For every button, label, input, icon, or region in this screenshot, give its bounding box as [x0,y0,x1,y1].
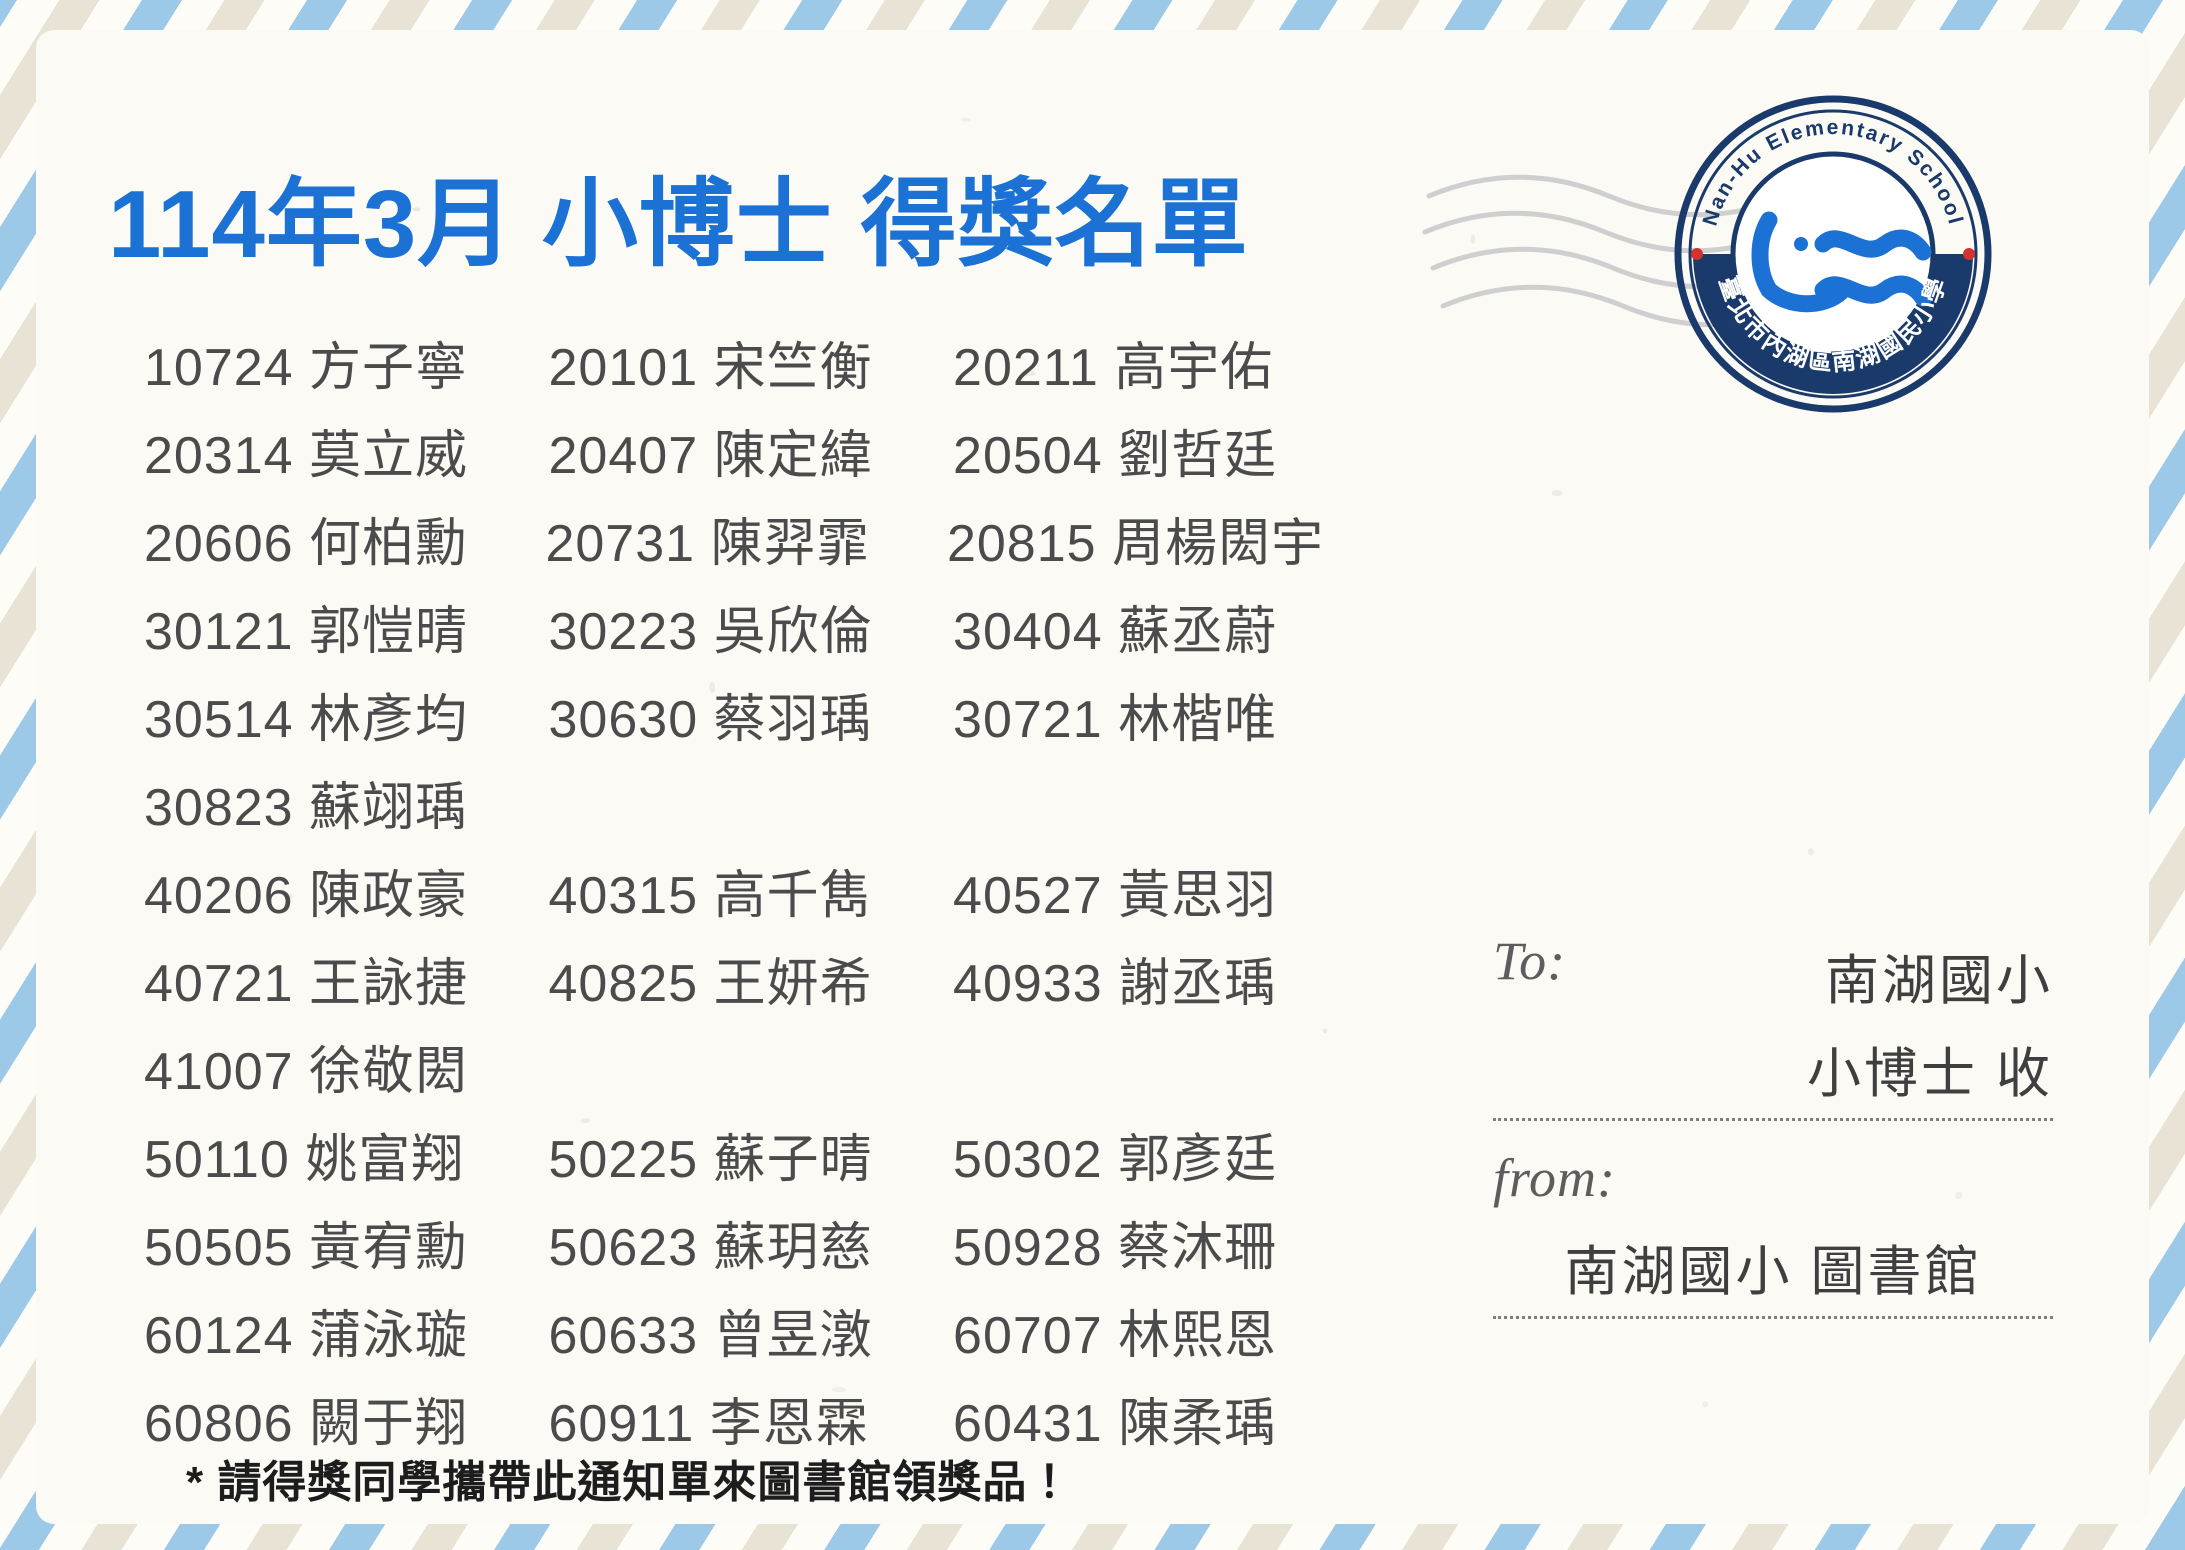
winner-entry: 20504 劉哲廷 [939,413,1324,488]
from-line: from: 南湖國小 圖書館 [1493,1147,2053,1319]
winner-entry: 50623 蘇玥慈 [535,1205,940,1280]
winner-entry: 50928 蔡沐珊 [939,1205,1324,1280]
winner-entry: 50110 姚富翔 [144,1117,535,1192]
winner-row: 40721 王詠捷40825 王妍希40933 謝丞瑀 [144,934,1324,1022]
winner-entry: 40721 王詠捷 [144,941,535,1016]
winner-entry: 50505 黃宥勳 [144,1205,535,1280]
winner-row: 30121 郭愷晴30223 吳欣倫30404 蘇丞蔚 [144,582,1324,670]
winner-entry: 40206 陳政豪 [144,853,535,928]
page-title: 114年3月 小博士 得獎名單 [108,172,1249,278]
winner-entry: 20606 何柏勳 [144,501,531,576]
address-block: To: 南湖國小 小博士 收 from: 南湖國小 圖書館 [1493,930,2053,1319]
winner-entry: 60707 林熙恩 [939,1293,1324,1368]
footer-note: * 請得獎同學攜帶此通知單來圖書館領獎品！ [186,1446,1072,1510]
winner-entry: 30404 蘇丞蔚 [939,589,1324,664]
winner-row: 10724 方子寧20101 宋竺衡20211 高宇佑 [144,318,1324,406]
winner-entry: 20407 陳定緯 [535,413,940,488]
to-line: To: 南湖國小 小博士 收 [1493,930,2053,1121]
to-value-line2: 小博士 收 [1807,1029,2053,1108]
winner-row: 30823 蘇翊瑀 [144,758,1324,846]
winner-entry: 40527 黃思羽 [939,853,1324,928]
winner-row: 20314 莫立威20407 陳定緯20504 劉哲廷 [144,406,1324,494]
postcard-inner-panel: 114年3月 小博士 得獎名單 10724 方子寧20101 宋竺衡20211 … [36,30,2149,1524]
winner-row: 20606 何柏勳20731 陳羿霏20815 周楊閎宇 [144,494,1324,582]
winner-row: 41007 徐敬閎 [144,1022,1324,1110]
school-logo-stamp-icon: Nan-Hu Elementary School 臺北市內湖區南湖國民小學 [1673,94,1993,414]
winner-entry: 20815 周楊閎宇 [933,501,1324,576]
winner-entry: 10724 方子寧 [144,325,535,400]
from-value: 南湖國小 圖書館 [1493,1227,2053,1306]
winner-entry: 60633 曾昱潡 [535,1293,940,1368]
winner-entry: 40825 王妍希 [535,941,940,1016]
winner-entry: 41007 徐敬閎 [144,1029,535,1104]
winner-entry: 20314 莫立威 [144,413,535,488]
winner-row: 60124 蒲泳璇60633 曾昱潡60707 林熙恩 [144,1286,1324,1374]
winner-entry: 30223 吳欣倫 [535,589,940,664]
winner-entry: 30514 林彥均 [144,677,535,752]
winner-entry: 50302 郭彥廷 [939,1117,1324,1192]
winner-row: 50505 黃宥勳50623 蘇玥慈50928 蔡沐珊 [144,1198,1324,1286]
stamp-area: Nan-Hu Elementary School 臺北市內湖區南湖國民小學 [1479,70,1999,400]
winner-entry: 20211 高宇佑 [939,325,1324,400]
winner-entry: 50225 蘇子晴 [535,1117,940,1192]
winner-row: 50110 姚富翔50225 蘇子晴50302 郭彥廷 [144,1110,1324,1198]
winner-entry: 30630 蔡羽瑀 [535,677,940,752]
winner-entry: 30721 林楷唯 [939,677,1324,752]
winner-list: 10724 方子寧20101 宋竺衡20211 高宇佑20314 莫立威2040… [144,318,1324,1462]
winner-entry: 60911 李恩霖 [535,1381,940,1456]
winner-row: 30514 林彥均30630 蔡羽瑀30721 林楷唯 [144,670,1324,758]
winner-entry: 20101 宋竺衡 [535,325,940,400]
winner-entry: 40315 高千雋 [535,853,940,928]
winner-row: 40206 陳政豪40315 高千雋40527 黃思羽 [144,846,1324,934]
from-label: from: [1493,1147,2053,1209]
winner-entry: 30121 郭愷晴 [144,589,535,664]
postcard: 114年3月 小博士 得獎名單 10724 方子寧20101 宋竺衡20211 … [0,0,2185,1550]
winner-entry: 40933 謝丞瑀 [939,941,1324,1016]
winner-entry: 20731 陳羿霏 [531,501,932,576]
winner-entry: 60431 陳柔瑀 [939,1381,1324,1456]
to-value-line1: 南湖國小 [1825,936,2053,1015]
to-label: To: [1493,930,1566,992]
winner-entry: 60124 蒲泳璇 [144,1293,535,1368]
winner-entry: 60806 闕于翔 [144,1381,535,1456]
winner-entry: 30823 蘇翊瑀 [144,765,535,840]
